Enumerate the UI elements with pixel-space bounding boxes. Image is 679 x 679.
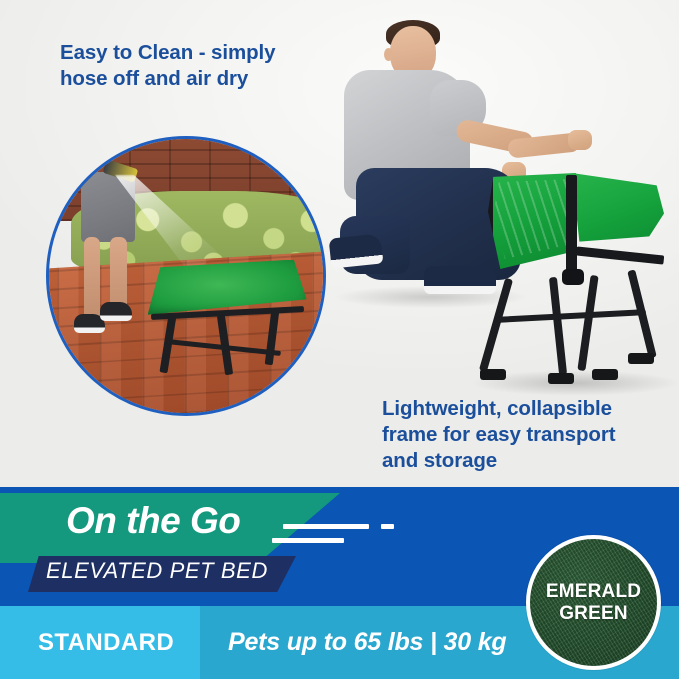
center-strap bbox=[566, 175, 577, 279]
inset-scene bbox=[49, 139, 323, 413]
color-name-line2: GREEN bbox=[546, 603, 641, 624]
frame-leg-1 bbox=[479, 278, 513, 372]
brand-name: On the Go bbox=[66, 502, 240, 539]
feature-callout-easy-clean: Easy to Clean - simply hose off and air … bbox=[60, 40, 300, 92]
size-label: STANDARD bbox=[38, 629, 174, 657]
photo-area: Easy to Clean - simply hose off and air … bbox=[0, 0, 679, 488]
frame-leg-2 bbox=[549, 277, 567, 375]
product-type-label: ELEVATED PET BED bbox=[46, 560, 268, 582]
feature-callout-lightweight: Lightweight, collapsible frame for easy … bbox=[382, 396, 632, 473]
frame-hub bbox=[562, 269, 584, 285]
accent-line-1 bbox=[283, 524, 369, 529]
pet-bed-inset bbox=[148, 260, 307, 375]
color-name: EMERALD GREEN bbox=[546, 581, 641, 624]
capacity-label: Pets up to 65 lbs | 30 kg bbox=[228, 628, 506, 657]
ear bbox=[384, 48, 393, 61]
foot-pad-2 bbox=[548, 373, 574, 384]
foot-pad-1 bbox=[480, 369, 506, 380]
sneaker-back bbox=[329, 233, 384, 268]
accent-line-2 bbox=[272, 538, 344, 543]
sneaker-right bbox=[100, 302, 131, 321]
color-swatch-badge: EMERALD GREEN bbox=[526, 535, 661, 670]
frame-leg-3 bbox=[577, 275, 598, 371]
hero-photo-collapsible-frame bbox=[330, 18, 679, 398]
accent-dash bbox=[381, 524, 394, 529]
edge-strap bbox=[576, 246, 664, 264]
foot-pad-4 bbox=[628, 353, 654, 364]
bed-leg-3 bbox=[265, 310, 280, 366]
inset-photo-hose-off bbox=[46, 136, 326, 416]
foot-pad-3 bbox=[592, 369, 618, 380]
color-name-line1: EMERALD bbox=[546, 581, 641, 602]
leg-left bbox=[84, 237, 100, 321]
pet-bed-collapsing bbox=[480, 173, 675, 388]
hand-right bbox=[568, 130, 592, 150]
product-infographic: Easy to Clean - simply hose off and air … bbox=[0, 0, 679, 679]
frame-cross-brace bbox=[496, 309, 646, 323]
